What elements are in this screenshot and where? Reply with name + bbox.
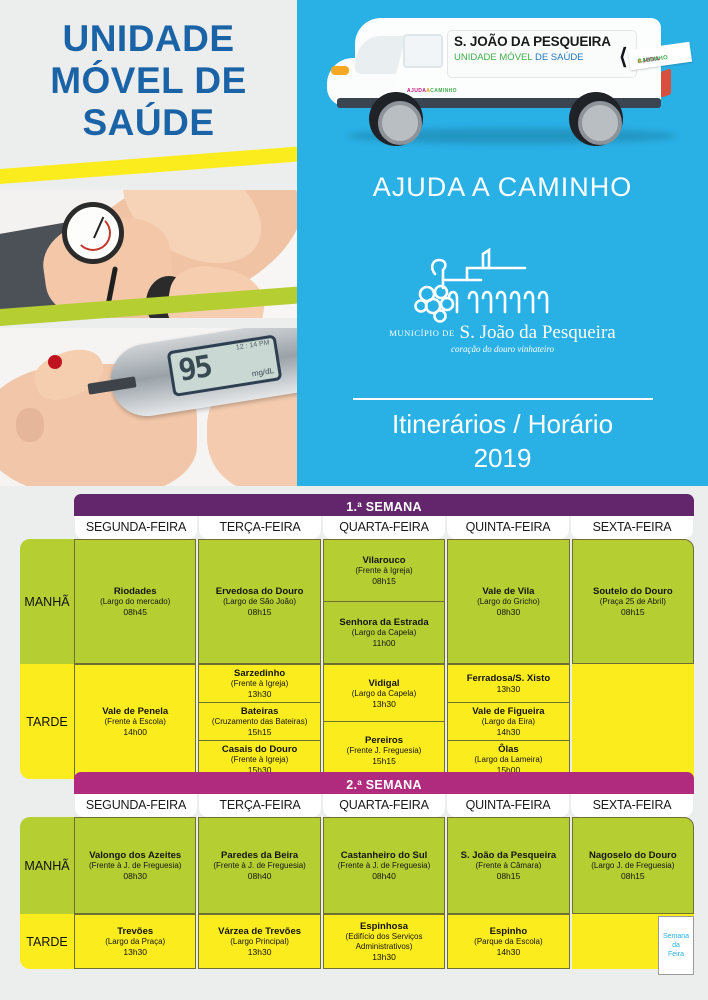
- stop-time: 08h15: [497, 871, 521, 881]
- stop-time: 08h40: [248, 871, 272, 881]
- schedule-column: Vale de Penela(Frente à Escola)14h00: [74, 664, 196, 779]
- stop-location: (Largo Principal): [230, 937, 289, 947]
- day-header-sexta-w2: SEXTA-FEIRA: [571, 794, 693, 817]
- schedule-column: Espinhosa(Edifício dos Serviços Administ…: [323, 914, 445, 969]
- schedule-cell: Paredes da Beira(Frente à J. de Freguesi…: [198, 817, 320, 914]
- day-header-sexta: SEXTA-FEIRA: [571, 516, 693, 539]
- van-subtitle-blue: DE SAÚDE: [535, 52, 584, 63]
- stop-location: (Largo J. de Freguesia): [591, 861, 674, 871]
- chevron-left-icon: ⟨: [619, 44, 628, 70]
- glucometer-screen: 95 12 : 14 PM mg/dL: [167, 334, 283, 397]
- stop-time: 13h30: [248, 689, 272, 699]
- schedule-column: Castanheiro do Sul(Frente à J. de Fregue…: [323, 817, 445, 914]
- schedule-cell: Castanheiro do Sul(Frente à J. de Fregue…: [323, 817, 445, 914]
- week-2-afternoon-row: TARDE Trevões(Largo da Praça)13h30Várzea…: [20, 914, 694, 969]
- row-label-tarde: TARDE: [20, 664, 74, 779]
- stop-time: 08h15: [621, 607, 645, 617]
- stop-time: 14h30: [497, 947, 521, 957]
- blood-drop-icon: [48, 355, 62, 369]
- van-sign-c: CAMINHO: [637, 55, 668, 65]
- glucometer-photo: 95 12 : 14 PM mg/dL: [0, 328, 297, 486]
- stop-location: (Largo da Lameira): [474, 755, 542, 765]
- year-label: 2019: [297, 443, 708, 474]
- stop-time: 08h45: [123, 607, 147, 617]
- glucose-unit: mg/dL: [251, 366, 274, 378]
- stop-name: Nagoselo do Douro: [589, 850, 677, 861]
- row-label-tarde-w2: TARDE: [20, 914, 74, 969]
- stop-time: 08h15: [372, 576, 396, 586]
- week-2-number: 2.: [346, 778, 357, 792]
- day-header-quinta-w2: QUINTA-FEIRA: [447, 794, 569, 817]
- stop-time: 08h30: [123, 871, 147, 881]
- van-subtitle-text: UNIDADE MÓVEL DE SAÚDE: [454, 52, 584, 63]
- title-line-1: UNIDADE: [0, 18, 297, 60]
- stop-name: Vale de Vila: [482, 586, 534, 597]
- schedule-column: Ervedosa do Douro(Largo de São João)08h1…: [198, 539, 320, 664]
- schedule-cell: Ervedosa do Douro(Largo de São João)08h1…: [198, 539, 320, 664]
- schedule-cell: Nagoselo do Douro(Largo J. de Freguesia)…: [572, 817, 694, 914]
- van-rear-wheel: [569, 92, 623, 146]
- page-title: UNIDADE MÓVEL DE SAÚDE: [0, 18, 297, 144]
- schedule-cell: Trevões(Largo da Praça)13h30: [74, 914, 196, 969]
- stop-time: 08h15: [248, 607, 272, 617]
- row-label-manha-w2: MANHÃ: [20, 817, 74, 914]
- stop-name: Ervedosa do Douro: [216, 586, 304, 597]
- day-header-segunda-w2: SEGUNDA-FEIRA: [75, 794, 197, 817]
- stop-location: (Parque da Escola): [474, 937, 542, 947]
- van-door-logo: [413, 70, 447, 86]
- mobile-unit-van-illustration: AJUDAACAMINHO S. JOÃO DA PESQUEIRA UNIDA…: [317, 8, 697, 148]
- schedule-column: S. João da Pesqueira(Frente à Câmara)08h…: [447, 817, 569, 914]
- glucose-value: 95: [176, 349, 213, 389]
- stop-name: Vilarouco: [362, 555, 405, 566]
- van-municipality-text: S. JOÃO DA PESQUEIRA: [454, 34, 611, 49]
- municipality-logo-mark: [297, 232, 708, 324]
- week-1-grid: MANHÃ Riodades(Largo do mercado)08h45Erv…: [20, 539, 694, 779]
- stop-name: Espinho: [490, 926, 527, 937]
- stop-name: S. João da Pesqueira: [461, 850, 557, 861]
- day-header-terca-w2: TERÇA-FEIRA: [199, 794, 321, 817]
- day-header-quinta: QUINTA-FEIRA: [447, 516, 569, 539]
- feira-line-3: Feira: [668, 950, 684, 959]
- schedule-column: Soutelo do Douro(Praça 25 de Abril)08h15: [572, 539, 694, 664]
- schedule-cell: Vale de Penela(Frente à Escola)14h00: [74, 664, 196, 779]
- stop-time: 15h15: [372, 756, 396, 766]
- day-header-terca: TERÇA-FEIRA: [199, 516, 321, 539]
- week-1-number: 1.: [346, 500, 357, 514]
- stop-location: (Largo do Gricho): [477, 597, 540, 607]
- week-2-day-headers: SEGUNDA-FEIRA TERÇA-FEIRA QUARTA-FEIRA Q…: [74, 794, 694, 817]
- stop-time: 13h30: [372, 952, 396, 962]
- week-1-morning-row: MANHÃ Riodades(Largo do mercado)08h45Erv…: [20, 539, 694, 664]
- municipality-tagline: coração do douro vinhateiro: [297, 344, 708, 354]
- stop-time: 08h15: [621, 871, 645, 881]
- week-2-word: SEMANA: [366, 778, 422, 792]
- stop-location: (Frente J. Freguesia): [347, 746, 422, 756]
- stop-location: (Largo da Capela): [352, 689, 416, 699]
- van-door-badge: AJUDAACAMINHO: [407, 88, 457, 94]
- taillight-icon: [661, 68, 671, 97]
- week-2-afternoon-cells: Trevões(Largo da Praça)13h30Várzea de Tr…: [74, 914, 694, 969]
- stop-name: Casais do Douro: [222, 744, 298, 755]
- stop-location: (Frente à Câmara): [476, 861, 542, 871]
- stop-time: 08h30: [497, 607, 521, 617]
- stop-name: Soutelo do Douro: [593, 586, 673, 597]
- week-1-morning-cells: Riodades(Largo do mercado)08h45Ervedosa …: [74, 539, 694, 664]
- stop-name: Vale de Penela: [102, 706, 168, 717]
- van-subtitle-green: UNIDADE MÓVEL: [454, 52, 532, 63]
- poster-root: UNIDADE MÓVEL DE SAÚDE: [0, 0, 708, 1000]
- thumb-nail-shape: [16, 408, 44, 442]
- stop-location: (Frente à J. de Freguesia): [89, 861, 181, 871]
- feira-line-1: Semana: [663, 932, 689, 941]
- stop-name: Espinhosa: [360, 921, 408, 932]
- stop-name: Vidigal: [369, 678, 400, 689]
- stop-name: Pereiros: [365, 735, 403, 746]
- feira-line-2: da: [672, 941, 680, 950]
- week-2-morning-row: MANHÃ Valongo dos Azeites(Frente à J. de…: [20, 817, 694, 914]
- day-header-quarta-w2: QUARTA-FEIRA: [323, 794, 445, 817]
- municipality-logo: MUNICÍPIO DE S. João da Pesqueira coraçã…: [297, 232, 708, 352]
- stop-location: (Frente à Igreja): [231, 755, 288, 765]
- van-front-wheel: [369, 92, 423, 146]
- stop-name: Ôlas: [498, 744, 519, 755]
- stop-location: (Frente à Igreja): [231, 679, 288, 689]
- stop-name: Senhora da Estrada: [339, 617, 428, 628]
- schedule-column: Sarzedinho(Frente à Igreja)13h30Bateiras…: [198, 664, 320, 779]
- schedule-column: Vilarouco(Frente à Igreja)08h15Senhora d…: [323, 539, 445, 664]
- glucose-timestamp: 12 : 14 PM: [235, 339, 270, 351]
- stop-name: Valongo dos Azeites: [89, 850, 181, 861]
- schedule-cell: Vale de Figueira(Largo da Eira)14h30: [447, 703, 569, 741]
- stop-location: (Edifício dos Serviços Administrativos): [326, 932, 442, 952]
- week-2-grid: MANHÃ Valongo dos Azeites(Frente à J. de…: [20, 817, 694, 969]
- headlight-icon: [331, 66, 349, 75]
- stop-time: 11h00: [373, 638, 396, 648]
- municipality-name: MUNICÍPIO DE S. João da Pesqueira: [297, 322, 708, 344]
- sphygmomanometer-gauge-icon: [62, 202, 124, 264]
- stop-time: 14h30: [497, 727, 521, 737]
- week-1-sup: a: [357, 500, 362, 509]
- stop-name: Paredes da Beira: [221, 850, 298, 861]
- week-1-banner: 1.a SEMANA: [74, 494, 694, 516]
- schedule-cell-empty: [572, 664, 694, 779]
- schedule-cell: Ferradosa/S. Xisto13h30: [447, 664, 569, 703]
- stop-name: Sarzedinho: [234, 668, 285, 679]
- stop-name: Bateiras: [241, 706, 279, 717]
- schedule-cell: Senhora da Estrada(Largo da Capela)11h00: [323, 602, 445, 664]
- van-door-badge-a: AJUDA: [407, 88, 426, 94]
- gauge-red-arc: [75, 215, 111, 251]
- stop-location: (Frente à Igreja): [355, 566, 412, 576]
- day-header-quarta: QUARTA-FEIRA: [323, 516, 445, 539]
- schedule-cell: Espinhosa(Edifício dos Serviços Administ…: [323, 914, 445, 969]
- stop-location: (Largo do mercado): [100, 597, 170, 607]
- header-left-panel: UNIDADE MÓVEL DE SAÚDE: [0, 0, 297, 486]
- stop-time: 13h30: [372, 699, 396, 709]
- schedule-column: Espinho(Parque da Escola)14h30: [447, 914, 569, 969]
- stop-time: 14h00: [123, 727, 147, 737]
- stop-location: (Largo da Capela): [352, 628, 416, 638]
- divider-rule: [353, 398, 653, 400]
- week-1-word: SEMANA: [366, 500, 422, 514]
- schedule-cell: Sarzedinho(Frente à Igreja)13h30: [198, 664, 320, 703]
- schedule-cell: Espinho(Parque da Escola)14h30: [447, 914, 569, 969]
- campaign-title: AJUDA A CAMINHO: [297, 172, 708, 203]
- title-line-3: SAÚDE: [0, 102, 297, 144]
- schedule-cell: Vidigal(Largo da Capela)13h30: [323, 664, 445, 722]
- stop-location: (Largo da Eira): [482, 717, 535, 727]
- stop-location: (Praça 25 de Abril): [600, 597, 666, 607]
- stop-location: (Frente à J. de Freguesia): [338, 861, 430, 871]
- schedule-column: [572, 664, 694, 779]
- schedule-column: Paredes da Beira(Frente à J. de Freguesi…: [198, 817, 320, 914]
- schedule-cell: Vilarouco(Frente à Igreja)08h15: [323, 539, 445, 602]
- stop-location: (Largo de São João): [223, 597, 296, 607]
- schedule-column: Ferradosa/S. Xisto13h30Vale de Figueira(…: [447, 664, 569, 779]
- stop-location: (Frente à J. de Freguesia): [213, 861, 305, 871]
- schedule-cell: S. João da Pesqueira(Frente à Câmara)08h…: [447, 817, 569, 914]
- schedule-cell: Bateiras(Cruzamento das Bateiras)15h15: [198, 703, 320, 741]
- schedule-cell: Pereiros(Frente J. Freguesia)15h15: [323, 722, 445, 779]
- stop-name: Várzea de Trevões: [218, 926, 301, 937]
- stop-name: Trevões: [117, 926, 153, 937]
- schedule-cell: Valongo dos Azeites(Frente à J. de Fregu…: [74, 817, 196, 914]
- title-line-2: MÓVEL DE: [0, 60, 297, 102]
- semana-da-feira-note: Semana da Feira: [658, 916, 694, 975]
- week-1-afternoon-row: TARDE Vale de Penela(Frente à Escola)14h…: [20, 664, 694, 779]
- schedule-column: Trevões(Largo da Praça)13h30: [74, 914, 196, 969]
- municipality-prefix: MUNICÍPIO DE: [389, 328, 455, 338]
- van-side-window: [403, 34, 443, 68]
- schedule-column: Nagoselo do Douro(Largo J. de Freguesia)…: [572, 817, 694, 914]
- stop-time: 13h30: [123, 947, 147, 957]
- van-door-badge-c: CAMINHO: [430, 88, 457, 94]
- stop-location: (Cruzamento das Bateiras): [212, 717, 308, 727]
- schedule-cell: Riodades(Largo do mercado)08h45: [74, 539, 196, 664]
- stop-time: 15h15: [248, 727, 272, 737]
- stop-location: (Frente à Escola): [105, 717, 166, 727]
- stop-name: Ferradosa/S. Xisto: [467, 673, 550, 684]
- stop-name: Vale de Figueira: [472, 706, 544, 717]
- week-2-banner: 2.a SEMANA: [74, 772, 694, 794]
- stop-time: 08h40: [372, 871, 396, 881]
- van-signage-panel: S. JOÃO DA PESQUEIRA UNIDADE MÓVEL DE SA…: [447, 30, 637, 78]
- stop-time: 13h30: [497, 684, 521, 694]
- week-1-afternoon-cells: Vale de Penela(Frente à Escola)14h00Sarz…: [74, 664, 694, 779]
- schedule-column: Valongo dos Azeites(Frente à J. de Fregu…: [74, 817, 196, 914]
- itinerary-label: Itinerários / Horário: [297, 408, 708, 441]
- schedule-cell: Soutelo do Douro(Praça 25 de Abril)08h15: [572, 539, 694, 664]
- day-header-segunda: SEGUNDA-FEIRA: [75, 516, 197, 539]
- stop-name: Castanheiro do Sul: [341, 850, 428, 861]
- schedule-column: Vale de Vila(Largo do Gricho)08h30: [447, 539, 569, 664]
- stop-name: Riodades: [114, 586, 157, 597]
- header-right-panel: AJUDAACAMINHO S. JOÃO DA PESQUEIRA UNIDA…: [297, 0, 708, 486]
- week-1-day-headers: SEGUNDA-FEIRA TERÇA-FEIRA QUARTA-FEIRA Q…: [74, 516, 694, 539]
- yellow-diagonal-band: [0, 142, 297, 187]
- row-label-manha: MANHÃ: [20, 539, 74, 664]
- schedule-cell: Vale de Vila(Largo do Gricho)08h30: [447, 539, 569, 664]
- week-2-sup: a: [357, 778, 362, 787]
- schedule-column: Vidigal(Largo da Capela)13h30Pereiros(Fr…: [323, 664, 445, 779]
- schedule-column: Riodades(Largo do mercado)08h45: [74, 539, 196, 664]
- municipality-name-text: S. João da Pesqueira: [460, 322, 616, 343]
- stop-time: 13h30: [248, 947, 272, 957]
- schedule-cell: Várzea de Trevões(Largo Principal)13h30: [198, 914, 320, 969]
- week-2-morning-cells: Valongo dos Azeites(Frente à J. de Fregu…: [74, 817, 694, 914]
- schedule-column: Várzea de Trevões(Largo Principal)13h30: [198, 914, 320, 969]
- poster-header: UNIDADE MÓVEL DE SAÚDE: [0, 0, 708, 486]
- stop-location: (Largo da Praça): [105, 937, 165, 947]
